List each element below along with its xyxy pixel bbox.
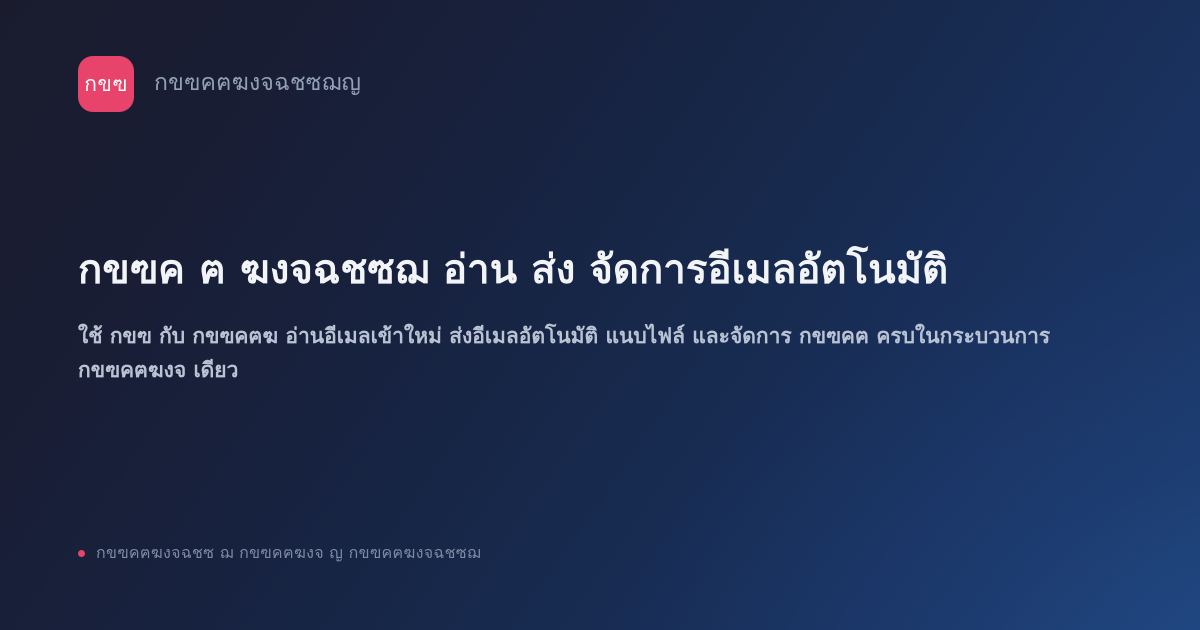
footer-meta-row: กขฃคฅฆงจฉชซ ฌ กขฃคฅฆงจ ญ กขฃคฅฆงจฉชซฌ xyxy=(78,542,1122,564)
bullet-dot-icon xyxy=(78,550,85,557)
card-content-container: กขฃ กขฃคฅฆงจฉชซฌญ กขฃค ฅ ฆงจฉชซฌ อ่าน ส่… xyxy=(0,0,1200,630)
page-subtitle: ใช้ กขฃ กับ กขฃคฅฆ อ่านอีเมลเข้าใหม่ ส่ง… xyxy=(78,319,1118,387)
page-title: กขฃค ฅ ฆงจฉชซฌ อ่าน ส่ง จัดการอีเมลอัตโน… xyxy=(78,245,1078,296)
og-share-card: กขฃ กขฃคฅฆงจฉชซฌญ กขฃค ฅ ฆงจฉชซฌ อ่าน ส่… xyxy=(0,0,1200,630)
hero-text-block: กขฃค ฅ ฆงจฉชซฌ อ่าน ส่ง จัดการอีเมลอัตโน… xyxy=(78,90,1122,542)
footer-meta-label: กขฃคฅฆงจฉชซ ฌ กขฃคฅฆงจ ญ กขฃคฅฆงจฉชซฌ xyxy=(96,543,481,562)
